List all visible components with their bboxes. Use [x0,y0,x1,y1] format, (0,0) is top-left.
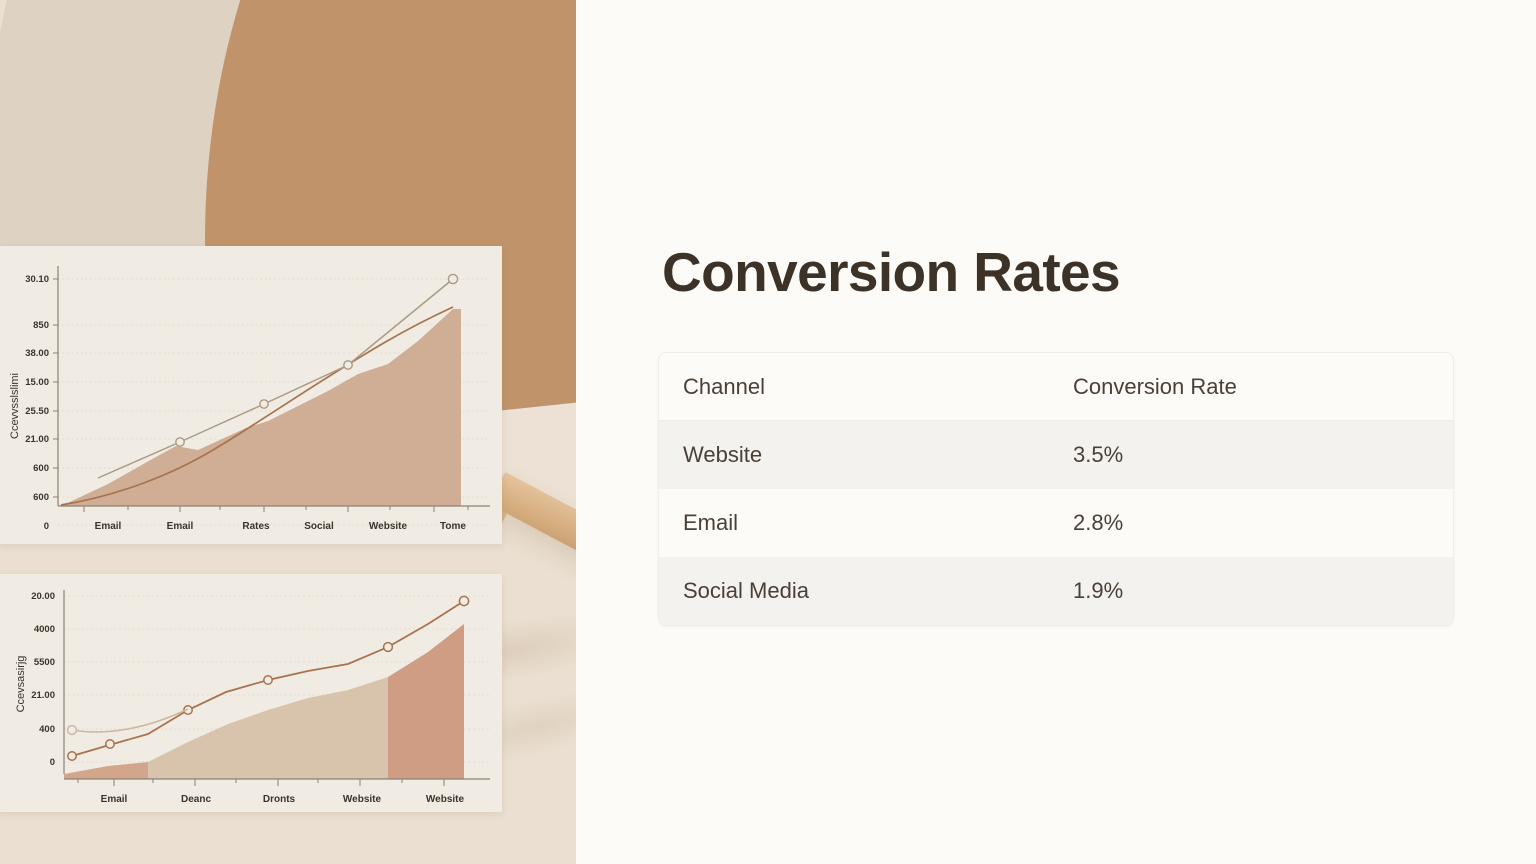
column-header-conversion-rate: Conversion Rate [1053,374,1453,400]
chart1-ytick-6: 600 [33,463,49,474]
table-header-row: Channel Conversion Rate [659,353,1453,421]
table-row[interactable]: Social Media 1.9% [659,557,1453,625]
chart2-ytick-2: 5500 [34,657,55,668]
cell-channel: Social Media [659,578,1053,604]
cell-conversion-rate: 3.5% [1053,442,1453,468]
cell-conversion-rate: 1.9% [1053,578,1453,604]
chart1-ytick-2: 38.00 [25,348,49,359]
page-title: Conversion Rates [662,240,1120,304]
slide-root: 30.10 850 38.00 15.00 25.50 21.00 600 60… [0,0,1536,864]
chart1-xtick-3: Social [304,521,334,532]
chart2-xtick-2: Dronts [263,794,296,805]
content-panel: Conversion Rates Channel Conversion Rate… [576,0,1536,864]
table-row[interactable]: Website 3.5% [659,421,1453,489]
chart-card-lower: 20.00 4000 5500 21.00 400 0 Ccevsasirjg … [0,574,502,812]
chart2-xtick-3: Website [343,794,382,805]
chart2-xtick-1: Deanc [181,794,211,805]
chart2-y-axis-title: Ccevsasirjg [15,656,27,713]
chart2-ytick-0: 20.00 [31,591,55,602]
chart1-xtick-0: Email [95,521,122,532]
chart2-xtick-4: Website [426,794,465,805]
chart1-y-axis-title: Ccevvsslslimi [9,373,21,439]
chart1-xtick-1: Email [167,521,194,532]
chart2-ytick-1: 4000 [34,624,55,635]
cell-channel: Email [659,510,1053,536]
chart-card-upper: 30.10 850 38.00 15.00 25.50 21.00 600 60… [0,246,502,544]
chart1-xtick-2: Rates [242,521,270,532]
chart1-ytick-4: 25.50 [25,406,49,417]
table-row[interactable]: Email 2.8% [659,489,1453,557]
chart1-ytick-3: 15.00 [25,377,49,388]
chart1-ytick-1: 850 [33,320,49,331]
decorative-image-panel: 30.10 850 38.00 15.00 25.50 21.00 600 60… [0,0,576,864]
chart2-xtick-0: Email [101,794,128,805]
chart1-ytick-8: 0 [44,521,49,532]
chart1-ytick-5: 21.00 [25,434,49,445]
chart2-ytick-5: 0 [50,757,55,768]
chart1-ytick-7: 600 [33,492,49,503]
conversion-rates-table: Channel Conversion Rate Website 3.5% Ema… [658,352,1454,626]
chart1-xtick-4: Website [369,521,408,532]
chart1-xtick-5: Tome [440,521,466,532]
column-header-channel: Channel [659,374,1053,400]
cell-conversion-rate: 2.8% [1053,510,1453,536]
chart2-ytick-3: 21.00 [31,690,55,701]
area-chart-upper: 30.10 850 38.00 15.00 25.50 21.00 600 60… [0,246,502,544]
chart1-ytick-0: 30.10 [25,274,49,285]
area-chart-lower: 20.00 4000 5500 21.00 400 0 Ccevsasirjg … [0,574,502,812]
cell-channel: Website [659,442,1053,468]
chart2-ytick-4: 400 [39,724,55,735]
